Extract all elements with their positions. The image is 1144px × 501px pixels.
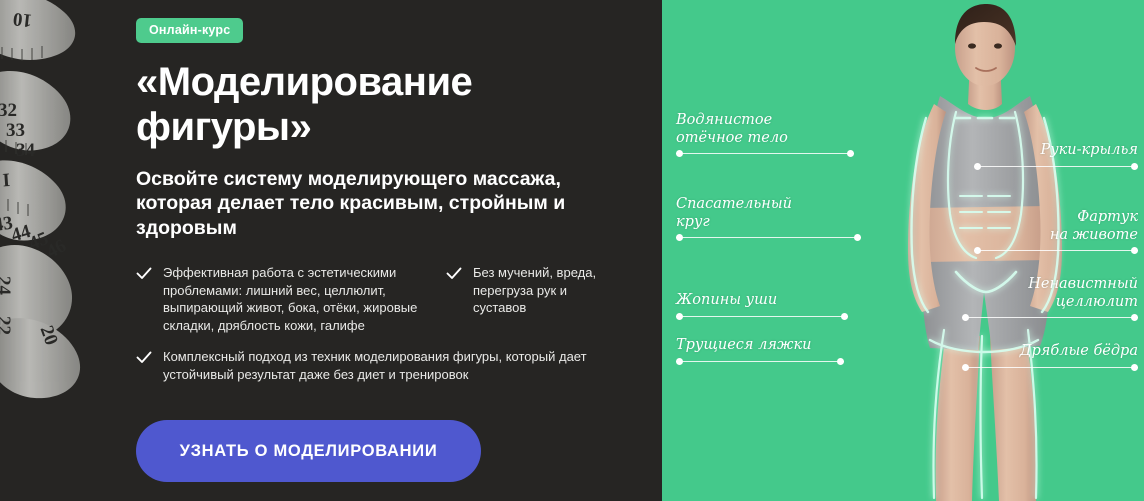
svg-text:20: 20 <box>36 323 62 348</box>
hero-image-panel: Водянистое отёчное тело Спасательный кру… <box>662 0 1144 501</box>
course-type-badge: Онлайн-курс <box>136 18 243 43</box>
svg-text:10: 10 <box>12 8 33 31</box>
callout-belly-apron: Фартук на животе <box>974 209 1138 254</box>
leader-line <box>962 364 1138 371</box>
svg-text:44: 44 <box>9 221 34 247</box>
page-subtitle: Освойте систему моделирующего массажа, к… <box>136 167 581 241</box>
svg-text:32: 32 <box>0 100 17 121</box>
left-text-block: Онлайн-курс «Моделирование фигуры» Освой… <box>136 18 656 398</box>
svg-text:45: 45 <box>26 228 51 255</box>
feature-text: Комплексный подход из техник моделирован… <box>163 348 616 383</box>
leader-line <box>962 314 1138 321</box>
svg-text:24: 24 <box>0 276 14 296</box>
check-icon <box>136 350 152 366</box>
measuring-tape-decoration: 10 32 33 34 I 43 44 45 46 24 22 20 <box>0 0 90 410</box>
callout-saddlebags: Жопины уши <box>676 292 848 320</box>
cta-button[interactable]: УЗНАТЬ О МОДЕЛИРОВАНИИ <box>136 420 481 482</box>
left-content-panel: 10 32 33 34 I 43 44 45 46 24 22 20 <box>0 0 662 501</box>
callout-wing-arms: Руки-крылья <box>974 142 1138 170</box>
svg-text:I: I <box>2 168 11 189</box>
svg-text:46: 46 <box>43 235 70 262</box>
svg-text:43: 43 <box>0 213 14 236</box>
feature-item: Эффективная работа с эстетическими пробл… <box>136 264 446 334</box>
leader-line <box>676 234 861 241</box>
feature-item: Комплексный подход из техник моделирован… <box>136 348 616 383</box>
callout-cellulite: Ненавистный целлюлит <box>962 276 1138 321</box>
feature-item: Без мучений, вреда, перегруза рук и суст… <box>446 264 616 334</box>
leader-line <box>676 358 844 365</box>
leader-line <box>974 163 1138 170</box>
check-icon <box>136 266 152 282</box>
leader-line <box>974 247 1138 254</box>
callout-life-ring: Спасательный круг <box>676 196 861 241</box>
leader-line <box>676 150 854 157</box>
feature-text: Без мучений, вреда, перегруза рук и суст… <box>473 264 616 317</box>
check-icon <box>446 266 462 282</box>
leader-line <box>676 313 848 320</box>
page-title: «Моделирование фигуры» <box>136 60 556 150</box>
svg-text:34: 34 <box>16 140 36 161</box>
feature-text: Эффективная работа с эстетическими пробл… <box>163 264 446 334</box>
feature-list: Эффективная работа с эстетическими пробл… <box>136 264 616 397</box>
callout-flabby-hips: Дряблые бёдра <box>962 343 1138 371</box>
svg-text:33: 33 <box>6 120 25 141</box>
callout-inner-thighs: Трущиеся ляжки <box>676 337 844 365</box>
callout-water-retention: Водянистое отёчное тело <box>676 112 854 157</box>
svg-text:22: 22 <box>0 316 14 335</box>
promo-banner: 10 32 33 34 I 43 44 45 46 24 22 20 <box>0 0 1144 501</box>
